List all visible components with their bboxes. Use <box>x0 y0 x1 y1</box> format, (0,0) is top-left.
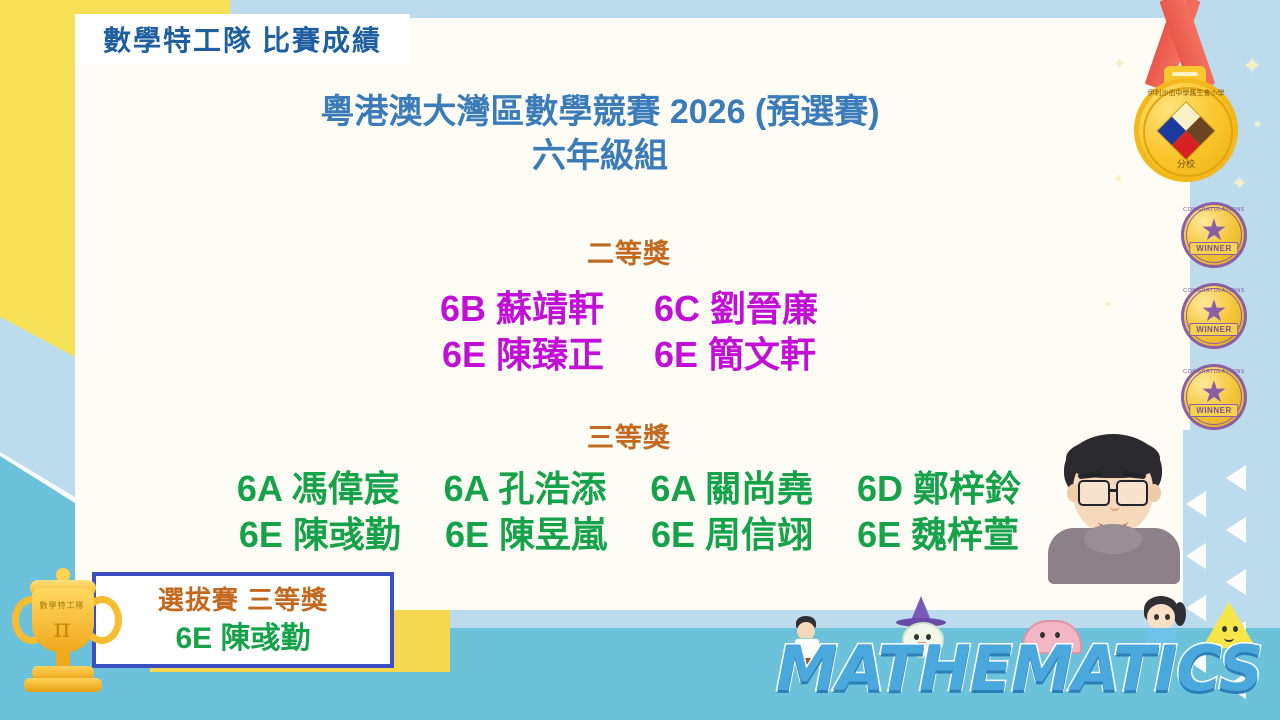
selection-contest-box: 選拔賽 三等獎 6E 陳彧勤 <box>92 572 394 668</box>
selection-contest-winner: 6E 陳彧勤 <box>96 619 390 659</box>
third-prize-row-1: 6A 馮偉宸 6A 孔浩添 6A 關尚堯 6D 鄭梓鈴 <box>75 466 1183 512</box>
badge-congratulations-text: CONGRATULATIONS <box>1181 369 1247 375</box>
header-tab: 數學特工隊 比賽成績 <box>75 14 410 64</box>
triangle-decoration <box>1226 517 1246 543</box>
trophy-team-label: 數學特工隊 <box>6 600 118 611</box>
third-prize-heading: 三等獎 <box>75 416 1183 455</box>
medal-branch-text: 分校 <box>1134 157 1238 170</box>
winner-name: 6E 周信翊 <box>651 512 813 558</box>
winner-name: 6A 孔浩添 <box>444 466 607 512</box>
triangle-decoration <box>1186 543 1206 569</box>
header-tab-title: 數學特工隊 比賽成績 <box>103 19 382 59</box>
third-prize-names: 6A 馮偉宸 6A 孔浩添 6A 關尚堯 6D 鄭梓鈴 6E 陳彧勤 6E 陳昱… <box>75 466 1183 558</box>
badge-winner-text: WINNER <box>1189 404 1238 417</box>
slide-root: ✦ ✦ ✦ ✦ ✦ ✦ 數學特工隊 比賽成績 粵港澳大灣區數學競賽 2026 (… <box>0 0 1280 720</box>
winner-badge-icon: CONGRATULATIONS ★ WINNER <box>1181 283 1247 349</box>
second-prize-heading: 二等獎 <box>75 232 1183 271</box>
avatar-hood-collar <box>1084 524 1142 554</box>
second-prize-names: 6B 蘇靖軒 6C 劉晉廉 6E 陳臻正 6E 簡文軒 <box>75 286 1183 378</box>
student-avatar-illustration <box>1040 432 1188 582</box>
badge-winner-text: WINNER <box>1189 242 1238 255</box>
winner-name: 6D 鄭梓鈴 <box>857 466 1021 512</box>
winner-name: 6C 劉晉廉 <box>654 286 818 332</box>
winner-name: 6E 魏梓萱 <box>857 512 1019 558</box>
winner-name: 6B 蘇靖軒 <box>440 286 604 332</box>
trophy-pi-symbol: π <box>6 614 118 644</box>
winner-badge-icon: CONGRATULATIONS ★ WINNER <box>1181 202 1247 268</box>
badge-congratulations-text: CONGRATULATIONS <box>1181 207 1247 213</box>
page-title-line2: 六年級組 <box>160 134 1040 178</box>
badge-congratulations-text: CONGRATULATIONS <box>1181 288 1247 294</box>
trophy-icon: 數學特工隊 π <box>6 566 118 702</box>
page-title-line1: 粵港澳大灣區數學競賽 2026 (預選賽) <box>320 93 879 131</box>
trophy-base-bottom <box>24 678 102 692</box>
winner-badge-icon: CONGRATULATIONS ★ WINNER <box>1181 364 1247 430</box>
winner-name: 6A 關尚堯 <box>650 466 813 512</box>
page-title: 粵港澳大灣區數學競賽 2026 (預選賽) 六年級組 <box>160 90 1040 178</box>
winner-name: 6E 陳臻正 <box>442 332 604 378</box>
gold-medal-icon: 伊利沙伯中學舊生會小學 分校 <box>1112 0 1262 182</box>
avatar-nose <box>1110 502 1120 511</box>
mathematics-wordmark: MATHEMATICS <box>776 632 1246 705</box>
triangle-decoration <box>1226 465 1246 491</box>
selection-contest-title: 選拔賽 三等獎 <box>96 581 390 619</box>
triangle-decoration <box>1186 491 1206 517</box>
mathematics-logo: MATHEMATICS <box>766 592 1256 720</box>
second-prize-row-1: 6B 蘇靖軒 6C 劉晉廉 <box>75 286 1183 332</box>
third-prize-row-2: 6E 陳彧勤 6E 陳昱嵐 6E 周信翊 6E 魏梓萱 <box>75 512 1183 558</box>
winner-name: 6E 簡文軒 <box>654 332 816 378</box>
winner-name: 6E 陳彧勤 <box>239 512 401 558</box>
badge-winner-text: WINNER <box>1189 323 1238 336</box>
medal-school-name: 伊利沙伯中學舊生會小學 <box>1134 88 1238 98</box>
medal-disc: 伊利沙伯中學舊生會小學 分校 <box>1134 78 1238 182</box>
winner-name: 6E 陳昱嵐 <box>445 512 607 558</box>
winner-name: 6A 馮偉宸 <box>237 466 400 512</box>
glasses-icon <box>1076 480 1150 502</box>
second-prize-row-2: 6E 陳臻正 6E 簡文軒 <box>75 332 1183 378</box>
